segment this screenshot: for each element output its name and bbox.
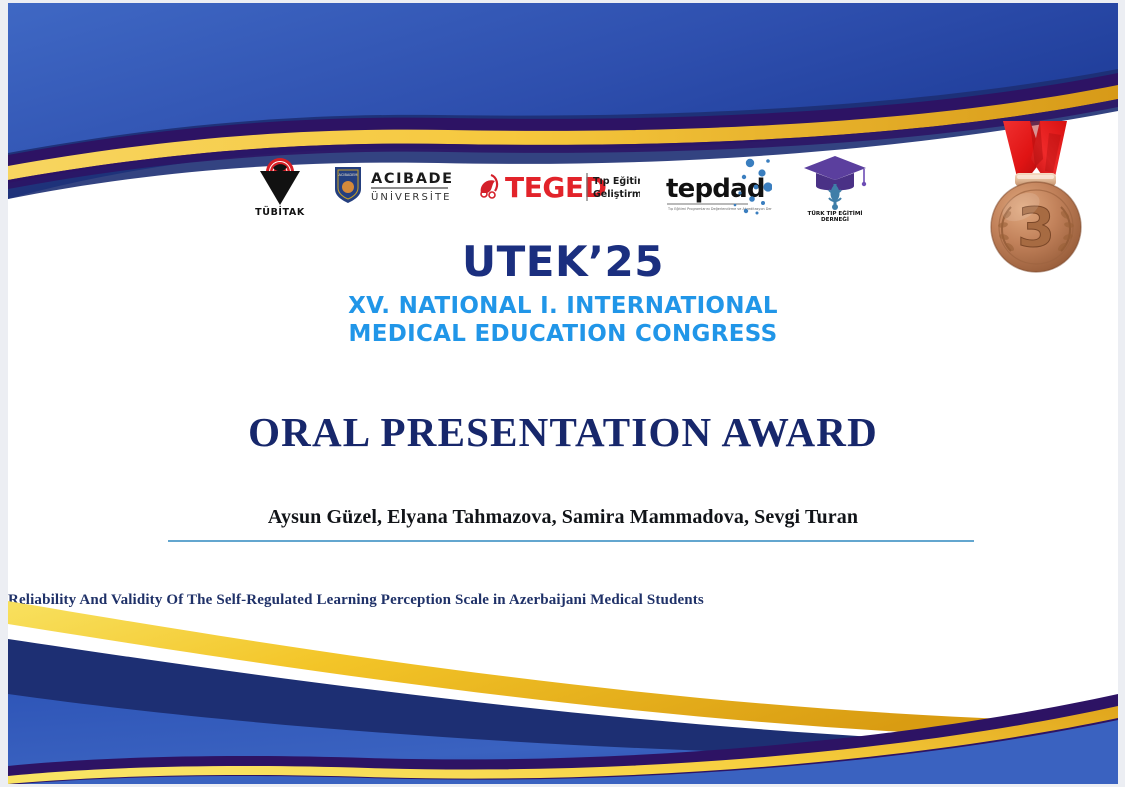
bottom-decorative-wave [8, 544, 1118, 784]
tubitak-logo: TÜBİTAK [253, 155, 307, 217]
teged-logo: TEGED Tıp Eğitimini Geliştirme Derneği [475, 165, 640, 207]
congress-subtitle: XV. NATIONAL I. INTERNATIONAL MEDICAL ED… [8, 292, 1118, 348]
teged-tagline2: Geliştirme Derneği [593, 189, 640, 200]
teged-tagline1: Tıp Eğitimini [593, 176, 640, 187]
award-title: ORAL PRESENTATION AWARD [8, 408, 1118, 456]
paper-title: Reliability And Validity Of The Self-Reg… [8, 592, 1118, 609]
turk-tip-egitimi-dernegi-logo: TÜRK TIP EĞİTİMİ DERNEĞİ [796, 150, 874, 222]
congress-title-block: UTEK’25 XV. NATIONAL I. INTERNATIONAL ME… [8, 239, 1118, 348]
page-inner: 3 TÜBİTAK [8, 3, 1118, 784]
ttegd-line1: TÜRK TIP EĞİTİMİ [807, 210, 862, 217]
certificate-page: 3 TÜBİTAK [0, 0, 1125, 787]
congress-subtitle-line2: MEDICAL EDUCATION CONGRESS [8, 320, 1118, 348]
teged-logo-text: TEGED [505, 171, 607, 204]
recipient-names: Aysun Güzel, Elyana Tahmazova, Samira Ma… [8, 506, 1118, 529]
acibadem-line1: ACIBADEM [371, 171, 451, 187]
congress-subtitle-line1: XV. NATIONAL I. INTERNATIONAL [348, 293, 778, 319]
svg-text:Tıp Eğitimi Programlarını Değe: Tıp Eğitimi Programlarını Değerlendirme … [667, 207, 772, 211]
tepdad-logo: tepdad Tıp Eğitimi Programlarını Değerle… [664, 153, 772, 219]
ttegd-line2: DERNEĞİ [821, 216, 849, 222]
acibadem-line2: ÜNİVERSİTESİ [371, 190, 451, 203]
svg-text:ACIBADEM: ACIBADEM [338, 173, 357, 177]
sponsor-logo-row: TÜBİTAK ACIBADEM ACIBADEM ÜNİVERSİTESİ [8, 146, 1118, 226]
acibadem-universitesi-logo: ACIBADEM ACIBADEM ÜNİVERSİTESİ [331, 163, 451, 209]
bronze-medal-icon: 3 [983, 115, 1113, 290]
tubitak-logo-text: TÜBİTAK [255, 207, 305, 217]
congress-main-title: UTEK’25 [8, 239, 1118, 284]
name-divider-line [168, 540, 974, 542]
